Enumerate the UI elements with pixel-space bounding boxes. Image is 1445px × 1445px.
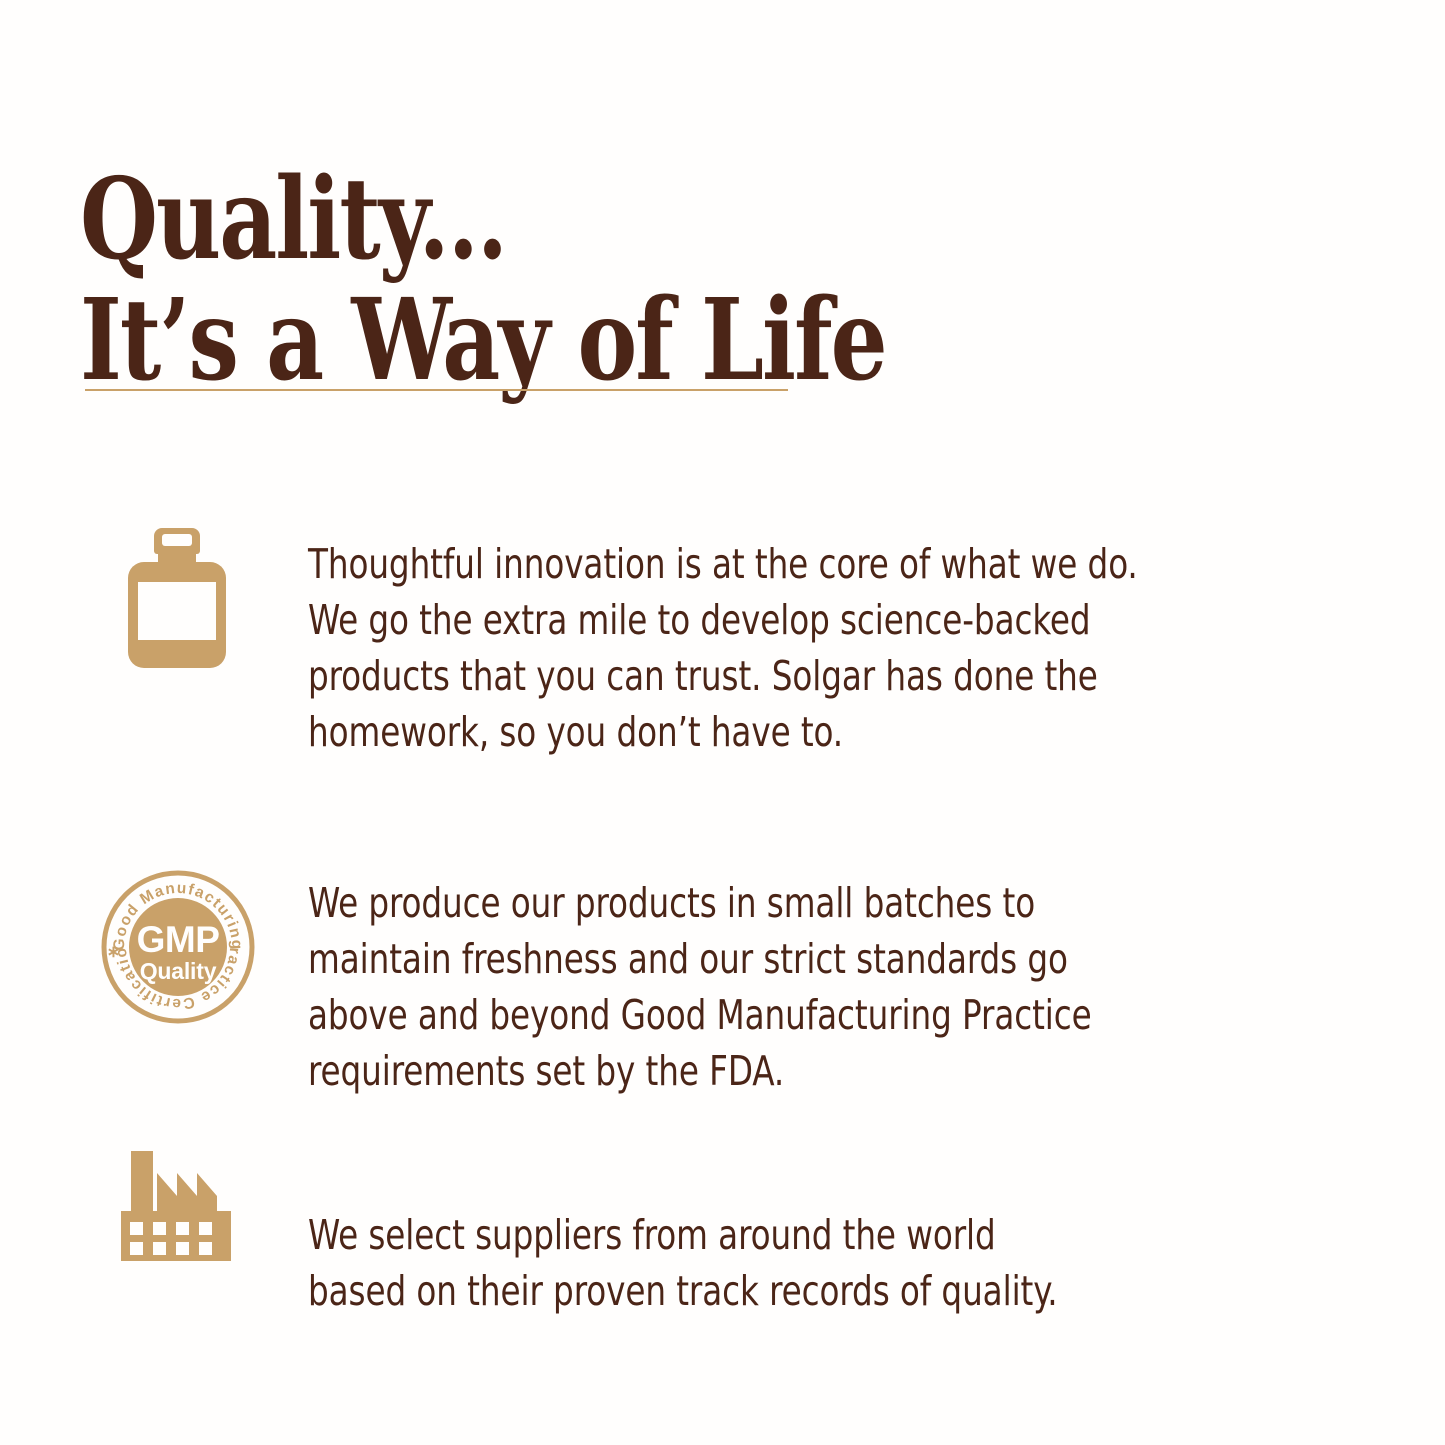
factory-window xyxy=(176,1242,189,1255)
headline-line-1: Quality... xyxy=(80,159,960,280)
seal-separator-icon: ∗ xyxy=(107,944,120,961)
section-3-line-2: based on their proven track records of q… xyxy=(308,1263,1058,1319)
seal-center-quality: Quality xyxy=(140,958,217,984)
section-2-line-2: maintain freshness and our strict standa… xyxy=(308,931,1092,987)
factory-window xyxy=(176,1222,189,1235)
section-1-line-4: homework, so you don’t have to. xyxy=(308,704,1138,760)
factory-window xyxy=(130,1242,143,1255)
section-2-paragraph: We produce our products in small batches… xyxy=(308,875,1092,1099)
section-1-paragraph: Thoughtful innovation is at the core of … xyxy=(308,536,1138,760)
section-3-line-1: We select suppliers from around the worl… xyxy=(308,1207,1058,1263)
page-title: Quality... It’s a Way of Life xyxy=(80,159,960,401)
factory-window xyxy=(130,1222,143,1235)
bottle-label-shape xyxy=(138,582,216,640)
supplement-bottle-icon xyxy=(128,528,226,668)
factory-icon xyxy=(115,1148,237,1261)
factory-window xyxy=(153,1222,166,1235)
section-1-line-3: products that you can trust. Solgar has … xyxy=(308,648,1138,704)
section-1-line-1: Thoughtful innovation is at the core of … xyxy=(308,536,1138,592)
section-2-line-3: above and beyond Good Manufacturing Prac… xyxy=(308,987,1092,1043)
header-divider xyxy=(85,389,788,391)
section-3-paragraph: We select suppliers from around the worl… xyxy=(308,1207,1058,1319)
bottle-cap-hole-shape xyxy=(162,534,192,546)
seal-center-gmp: GMP xyxy=(137,919,220,960)
section-2-line-4: requirements set by the FDA. xyxy=(308,1043,1092,1099)
factory-window xyxy=(199,1242,212,1255)
gmp-quality-seal-icon: Good Manufacturing Practice Certificatio… xyxy=(100,869,256,1025)
quality-promo-page: Quality... It’s a Way of Life Thoughtful… xyxy=(0,0,1445,1445)
headline-line-2: It’s a Way of Life xyxy=(80,280,960,401)
section-2-line-1: We produce our products in small batches… xyxy=(308,875,1092,931)
factory-window xyxy=(153,1242,166,1255)
factory-window xyxy=(199,1222,212,1235)
section-1-line-2: We go the extra mile to develop science-… xyxy=(308,592,1138,648)
